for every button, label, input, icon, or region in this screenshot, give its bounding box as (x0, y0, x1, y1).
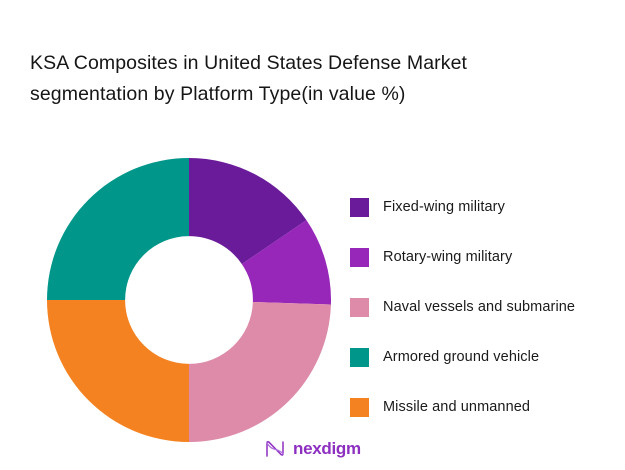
legend-item[interactable]: Naval vessels and submarine (350, 282, 615, 332)
legend-color-swatch (350, 398, 369, 417)
brand-logo: nexdigm (264, 437, 361, 461)
legend-item[interactable]: Missile and unmanned (350, 382, 615, 432)
donut-slice[interactable]: Missile and unmanned 25% (47, 300, 189, 442)
wave-n-icon (264, 439, 286, 459)
brand-name: nexdigm (293, 439, 361, 459)
legend-color-swatch (350, 298, 369, 317)
legend-color-swatch (350, 348, 369, 367)
legend-item-label: Fixed-wing military (383, 199, 505, 215)
legend-color-swatch (350, 198, 369, 217)
legend-item-label: Rotary-wing military (383, 249, 512, 265)
legend-item[interactable]: Rotary-wing military (350, 232, 615, 282)
donut-slice[interactable]: Armored ground vehicle 25% (47, 158, 189, 300)
chart-legend: Fixed-wing militaryRotary-wing militaryN… (350, 182, 615, 432)
legend-item-label: Missile and unmanned (383, 399, 530, 415)
donut-slice-group: Fixed-wing military 15.5%Rotary-wing mil… (47, 158, 331, 442)
legend-item-label: Armored ground vehicle (383, 349, 539, 365)
legend-item[interactable]: Armored ground vehicle (350, 332, 615, 382)
legend-color-swatch (350, 248, 369, 267)
legend-item-label: Naval vessels and submarine (383, 299, 575, 315)
donut-chart: Fixed-wing military 15.5%Rotary-wing mil… (47, 158, 331, 442)
donut-slice[interactable]: Naval vessels and submarine 24.5% (189, 302, 331, 442)
chart-card: KSA Composites in United States Defense … (0, 0, 625, 470)
donut-chart-svg: Fixed-wing military 15.5%Rotary-wing mil… (47, 158, 331, 442)
page-title: KSA Composites in United States Defense … (30, 48, 590, 110)
legend-item[interactable]: Fixed-wing military (350, 182, 615, 232)
